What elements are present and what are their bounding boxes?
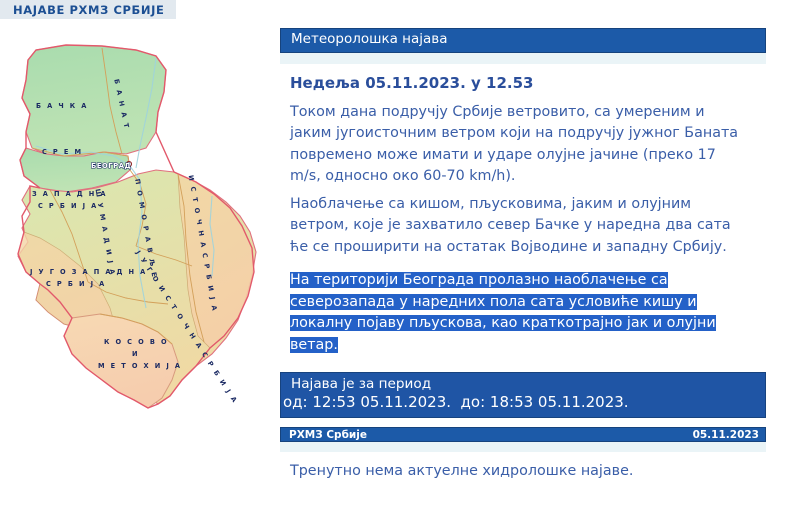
announcement-paragraph-2: Наоблачење са кишом, пљусковима, јаким и… (280, 188, 742, 259)
footer-underlay (280, 442, 766, 452)
period-title: Најава је за период (281, 373, 765, 393)
announcement-date: Недеља 05.11.2023. у 12.53 (280, 64, 766, 96)
announcement-panel: Метеоролошка најава Недеља 05.11.2023. у… (280, 28, 766, 479)
map-label-kosovo-line1: К О С О В О (104, 338, 168, 346)
map-label-beograd: БЕОГРАД (91, 162, 131, 170)
source-footer-bar: РХМЗ Србије 05.11.2023 (280, 427, 766, 442)
region-shape-vojvodina (22, 45, 166, 156)
announcement-paragraph-3-selected: На територији Београда пролазно наоблаче… (280, 258, 742, 356)
source-name: РХМЗ Србије (289, 428, 367, 441)
source-date: 05.11.2023 (693, 428, 759, 441)
section-underlay (280, 53, 766, 64)
map-svg: Б А Ч К А Б А Н А Т С Р Е М БЕОГРАД З А … (6, 36, 268, 418)
map-label-jugozapadna-srbija-line2: С Р Б И Ј А (46, 280, 106, 288)
selected-text: На територији Београда пролазно наоблаче… (290, 272, 716, 353)
page-title-bar: НАЈАВЕ РХМЗ СРБИЈЕ (0, 0, 176, 19)
period-range: од: 12:53 05.11.2023. до: 18:53 05.11.20… (281, 393, 765, 415)
map-label-backa: Б А Ч К А (36, 102, 88, 110)
map-label-zapadna-srbija-line2: С Р Б И Ј А (38, 202, 98, 210)
map-label-jugozapadna-srbija-line1: Ј У Г О З А П А Д Н А (29, 268, 147, 276)
map-label-srem: С Р Е М (42, 148, 83, 156)
page-title: НАЈАВЕ РХМЗ СРБИЈЕ (13, 3, 164, 17)
period-block: Најава је за период од: 12:53 05.11.2023… (280, 372, 766, 417)
map-label-kosovo-line2: И (132, 350, 139, 358)
map-of-serbia: Б А Ч К А Б А Н А Т С Р Е М БЕОГРАД З А … (6, 36, 268, 418)
map-label-kosovo-line3: М Е Т О Х И Ј А (98, 362, 182, 370)
meteo-section-header: Метеоролошка најава (280, 28, 766, 53)
hydrological-note: Тренутно нема актуелне хидролошке најаве… (280, 452, 766, 479)
announcement-paragraph-1: Током дана подручју Србије ветровито, са… (280, 96, 742, 188)
